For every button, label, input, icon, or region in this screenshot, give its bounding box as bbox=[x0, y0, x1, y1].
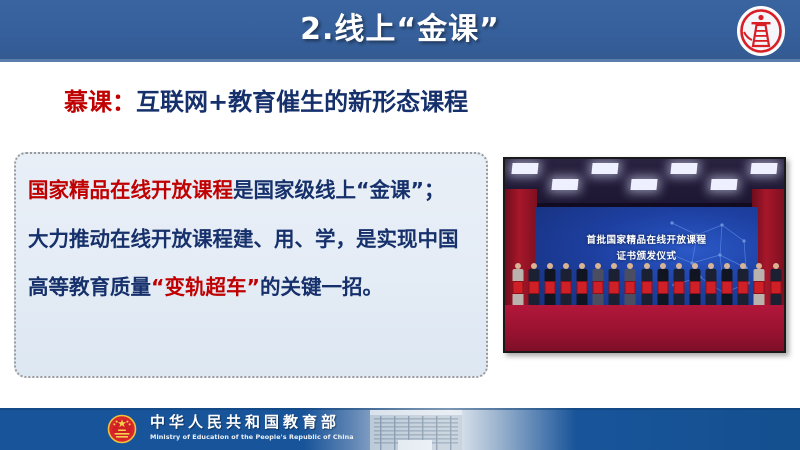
ministry-building-photo bbox=[370, 410, 500, 450]
panel-line-3-prefix: 高等教育质量 bbox=[28, 275, 151, 299]
footer-ministry-text: 中华人民共和国教育部 Ministry of Education of the … bbox=[150, 414, 354, 442]
institution-circular-emblem-icon bbox=[736, 6, 786, 56]
footer-ministry-en: Ministry of Education of the People's Re… bbox=[150, 432, 354, 442]
panel-line-1-highlight: 国家精品在线开放课程 bbox=[28, 178, 233, 202]
footer-ministry-cn: 中华人民共和国教育部 bbox=[150, 414, 354, 431]
photo-stage-floor bbox=[505, 305, 784, 351]
panel-line-3: 高等教育质量“变轨超车”的关键一招。 bbox=[28, 277, 474, 298]
photo-ceiling-lights bbox=[505, 163, 784, 199]
panel-line-3-suffix: 的关键一招。 bbox=[260, 275, 383, 299]
subtitle-accent: 慕课： bbox=[64, 88, 136, 116]
panel-line-3-highlight: “变轨超车” bbox=[151, 275, 260, 299]
ceiling-light bbox=[551, 179, 578, 190]
panel-line-2-text: 大力推动在线开放课程建、用、学，是实现中国 bbox=[28, 227, 459, 251]
ceiling-light bbox=[711, 179, 738, 190]
definition-text-panel: 国家精品在线开放课程是国家级线上“金课”； 大力推动在线开放课程建、用、学，是实… bbox=[14, 152, 488, 378]
page-title: 2.线上“金课” bbox=[0, 0, 800, 62]
slide-root: 2.线上“金课” 慕课：互联网+教育催生的新形态课程 国家精品在线开放课程是国家… bbox=[0, 0, 800, 450]
ceiling-light bbox=[750, 163, 777, 174]
subtitle-base: 互联网+教育催生的新形态课程 bbox=[136, 88, 468, 116]
award-ceremony-photo: 首批国家精品在线开放课程 证书颁发仪式 bbox=[503, 157, 786, 353]
panel-line-1-rest: 是国家级线上“金课”； bbox=[233, 178, 444, 202]
panel-line-2: 大力推动在线开放课程建、用、学，是实现中国 bbox=[28, 229, 474, 250]
footer-band: 中华人民共和国教育部 Ministry of Education of the … bbox=[0, 408, 800, 450]
ceiling-light bbox=[511, 163, 538, 174]
ceiling-light bbox=[631, 179, 658, 190]
photo-screen-caption-line1: 首批国家精品在线开放课程 bbox=[535, 233, 758, 249]
section-subtitle: 慕课：互联网+教育催生的新形态课程 bbox=[64, 82, 468, 117]
header-band: 2.线上“金课” bbox=[0, 0, 800, 62]
ceiling-light bbox=[591, 163, 618, 174]
ceiling-light bbox=[671, 163, 698, 174]
china-national-emblem-icon bbox=[107, 414, 137, 444]
panel-line-1: 国家精品在线开放课程是国家级线上“金课”； bbox=[28, 180, 474, 201]
